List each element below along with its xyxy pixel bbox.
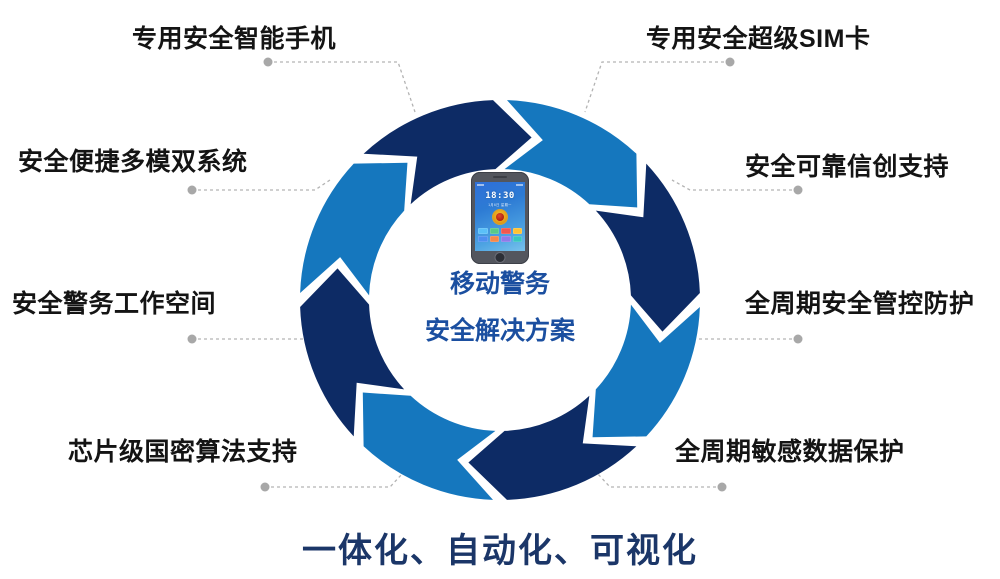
phone-clock-time: 18:30 <box>475 191 525 201</box>
phone-app-grid <box>478 228 522 242</box>
connector-line <box>268 62 415 112</box>
smartphone-illustration: 18:30 1月6日 星期一 <box>471 172 529 264</box>
bottom-headline: 一体化、自动化、可视化 <box>0 523 1000 572</box>
connector-dot <box>718 483 727 492</box>
label-lower-left[interactable]: 安全警务工作空间 <box>12 292 216 317</box>
label-upper-left[interactable]: 安全便捷多模双系统 <box>18 150 248 175</box>
connector-line <box>192 180 330 190</box>
phone-status-bar <box>477 183 523 187</box>
phone-app-icon <box>501 236 511 242</box>
center-caption: 移动警务 安全解决方案 <box>380 272 620 344</box>
phone-body: 18:30 1月6日 星期一 <box>471 172 529 264</box>
center-caption-line2: 安全解决方案 <box>380 319 620 344</box>
phone-app-icon <box>478 236 488 242</box>
label-lower-right[interactable]: 全周期安全管控防护 <box>745 292 975 317</box>
center-caption-line1: 移动警务 <box>380 272 620 297</box>
phone-app-icon <box>501 228 511 234</box>
connector-dot <box>264 58 273 67</box>
phone-home-button <box>496 253 505 262</box>
phone-app-icon <box>478 228 488 234</box>
connector-dot <box>188 335 197 344</box>
label-upper-right[interactable]: 安全可靠信创支持 <box>745 155 949 180</box>
connector-dot <box>726 58 735 67</box>
phone-app-icon <box>490 228 500 234</box>
police-badge-icon <box>492 209 508 225</box>
connector-line <box>672 180 798 190</box>
label-bottom-left[interactable]: 芯片级国密算法支持 <box>68 440 298 465</box>
label-bottom-right[interactable]: 全周期敏感数据保护 <box>675 440 905 465</box>
connector-line <box>585 62 730 112</box>
connector-dot <box>794 186 803 195</box>
phone-app-icon <box>513 228 523 234</box>
phone-app-icon <box>490 236 500 242</box>
phone-screen: 18:30 1月6日 星期一 <box>475 182 525 251</box>
connector-dot <box>794 335 803 344</box>
connector-dot <box>188 186 197 195</box>
infographic-canvas: 专用安全智能手机 安全便捷多模双系统 安全警务工作空间 芯片级国密算法支持 专用… <box>0 0 1000 579</box>
connector-dot <box>261 483 270 492</box>
phone-speaker <box>493 176 507 178</box>
label-top-right[interactable]: 专用安全超级SIM卡 <box>646 27 870 52</box>
ring-segment[interactable] <box>363 393 496 500</box>
label-top-left[interactable]: 专用安全智能手机 <box>132 27 336 52</box>
phone-clock-date: 1月6日 星期一 <box>475 202 525 207</box>
phone-app-icon <box>513 236 523 242</box>
